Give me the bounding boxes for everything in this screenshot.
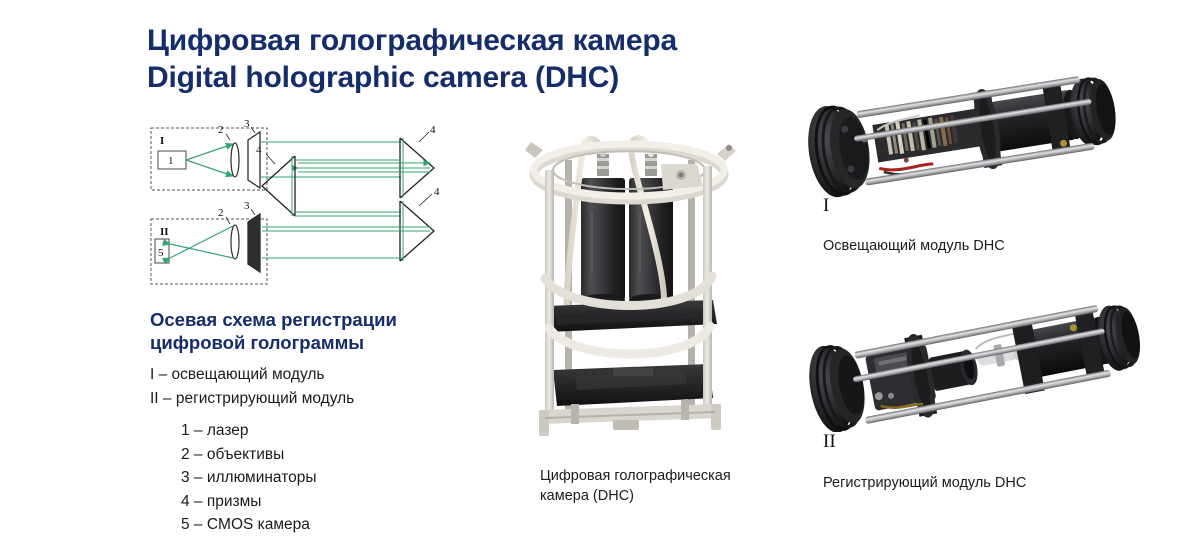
diagram-illuminator-top (248, 132, 260, 188)
list-item: 1 – лазер (181, 419, 480, 443)
diagram-label-lens-bottom: 2 (218, 207, 224, 219)
diagram-label-module-i: I (160, 135, 164, 147)
list-item: 5 – CMOS камера (181, 513, 480, 537)
base-clamp (613, 420, 639, 430)
caption-camera-assembly: Цифровая голографическая камера (DHC) (540, 466, 770, 506)
diagram-label-prism-right-top: 4 (430, 124, 436, 136)
legend-heading-line1: Осевая схема регистрации (150, 308, 480, 331)
legend-heading-line2: цифровой голограммы (150, 331, 480, 354)
photo-illuminating-module (782, 56, 1180, 198)
list-item: 3 – иллюминаторы (181, 466, 480, 490)
figure-roman-label-ii: II (823, 432, 836, 452)
diagram-lens-bottom (231, 225, 239, 259)
caption-line-1: Цифровая голографическая (540, 466, 770, 486)
page-title: Цифровая голографическая камера Digital … (147, 22, 767, 96)
legend-block: Осевая схема регистрации цифровой гологр… (150, 308, 480, 537)
optical-scheme-diagram: I 1 2 3 4 (138, 116, 468, 301)
lifting-lug-left (525, 142, 543, 158)
diagram-label-illuminator-bottom: 3 (244, 200, 250, 212)
diagram-label-prism-right-bottom: 4 (434, 186, 440, 198)
diagram-label-prism-middle: 4 (256, 144, 262, 156)
list-item: 4 – призмы (181, 490, 480, 514)
diagram-illuminator-bottom (248, 214, 260, 272)
legend-parts-list: 1 – лазер 2 – объективы 3 – иллюминаторы… (150, 419, 480, 537)
caption-recording-module: Регистрирующий модуль DHC (823, 473, 1123, 493)
photo-digital-holographic-camera (505, 118, 755, 458)
legend-modules-list: I – освещающий модуль II – регистрирующи… (150, 363, 480, 410)
connector-left (597, 154, 609, 176)
caption-illuminating-module: Освещающий модуль DHC (823, 236, 1123, 256)
diagram-label-illuminator-top: 3 (244, 118, 250, 130)
title-line-ru: Цифровая голографическая камера (147, 22, 767, 59)
title-line-en: Digital holographic camera (DHC) (147, 59, 767, 96)
list-item: I – освещающий модуль (150, 363, 480, 387)
list-item: 2 – объективы (181, 443, 480, 467)
list-item: II – регистрирующий модуль (150, 387, 480, 411)
caption-line-2: камера (DHC) (540, 486, 770, 506)
diagram-label-lens-top: 2 (218, 124, 224, 136)
slide-root: Цифровая голографическая камера Digital … (0, 0, 1200, 543)
photo-recording-module (782, 290, 1180, 432)
connector-right (645, 154, 657, 176)
diagram-label-module-ii: II (160, 226, 169, 238)
diagram-lens-top (231, 143, 239, 177)
figure-roman-label-i: I (823, 196, 829, 216)
diagram-label-laser: 1 (168, 155, 174, 167)
frame-upright-front-left (545, 170, 554, 420)
diagram-label-camera: 5 (158, 247, 164, 259)
